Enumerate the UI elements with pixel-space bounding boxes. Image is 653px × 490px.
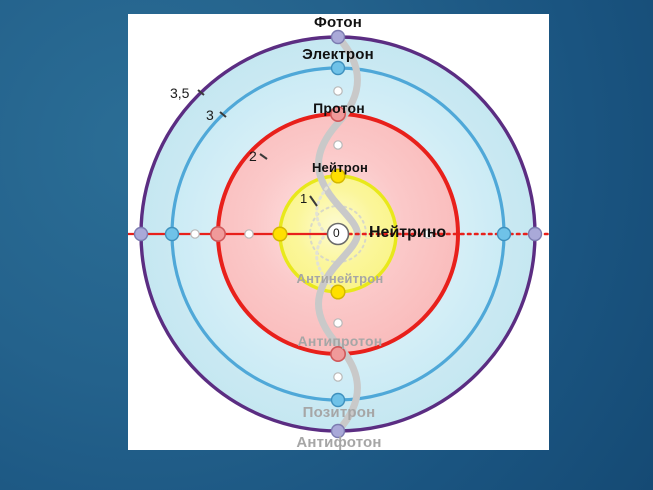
diagram-panel: Фотон Электрон Протон Нейтрон Антинейтро… [128, 14, 549, 450]
axis-node-proton-left [211, 227, 225, 241]
label-proton: Протон [313, 101, 365, 115]
scale-number-3-5: 3,5 [170, 86, 189, 100]
label-photon: Фотон [314, 15, 362, 30]
axis-node-intermediate-left-2 [245, 230, 253, 238]
slide-canvas: Фотон Электрон Протон Нейтрон Антинейтро… [0, 0, 653, 490]
node-intermediate-bottom-2 [334, 373, 342, 381]
axis-node-intermediate-left-1 [191, 230, 199, 238]
node-electron-top [332, 62, 345, 75]
node-photon-top [332, 31, 345, 44]
label-antiproton: Антипротон [298, 334, 383, 348]
axis-node-photon-left [135, 228, 148, 241]
label-origin: 0 [333, 227, 340, 239]
label-antineutron: Антинейтрон [297, 272, 384, 285]
label-neutrino: Нейтрино [369, 225, 446, 241]
label-neutron: Нейтрон [312, 161, 368, 174]
scale-number-3: 3 [206, 108, 214, 122]
scale-number-1: 1 [300, 192, 307, 205]
node-intermediate-top-1 [334, 87, 342, 95]
label-positron: Позитрон [303, 405, 376, 420]
node-antineutron-bottom [331, 285, 345, 299]
label-antiphoton: Антифотон [296, 435, 381, 450]
label-electron: Электрон [302, 47, 374, 62]
axis-node-electron-right [498, 228, 511, 241]
node-intermediate-top-2 [334, 141, 342, 149]
axis-node-neutron-left [273, 227, 287, 241]
node-intermediate-bottom-1 [334, 319, 342, 327]
scale-number-2: 2 [249, 149, 257, 163]
axis-node-photon-right [529, 228, 542, 241]
axis-node-electron-left [166, 228, 179, 241]
